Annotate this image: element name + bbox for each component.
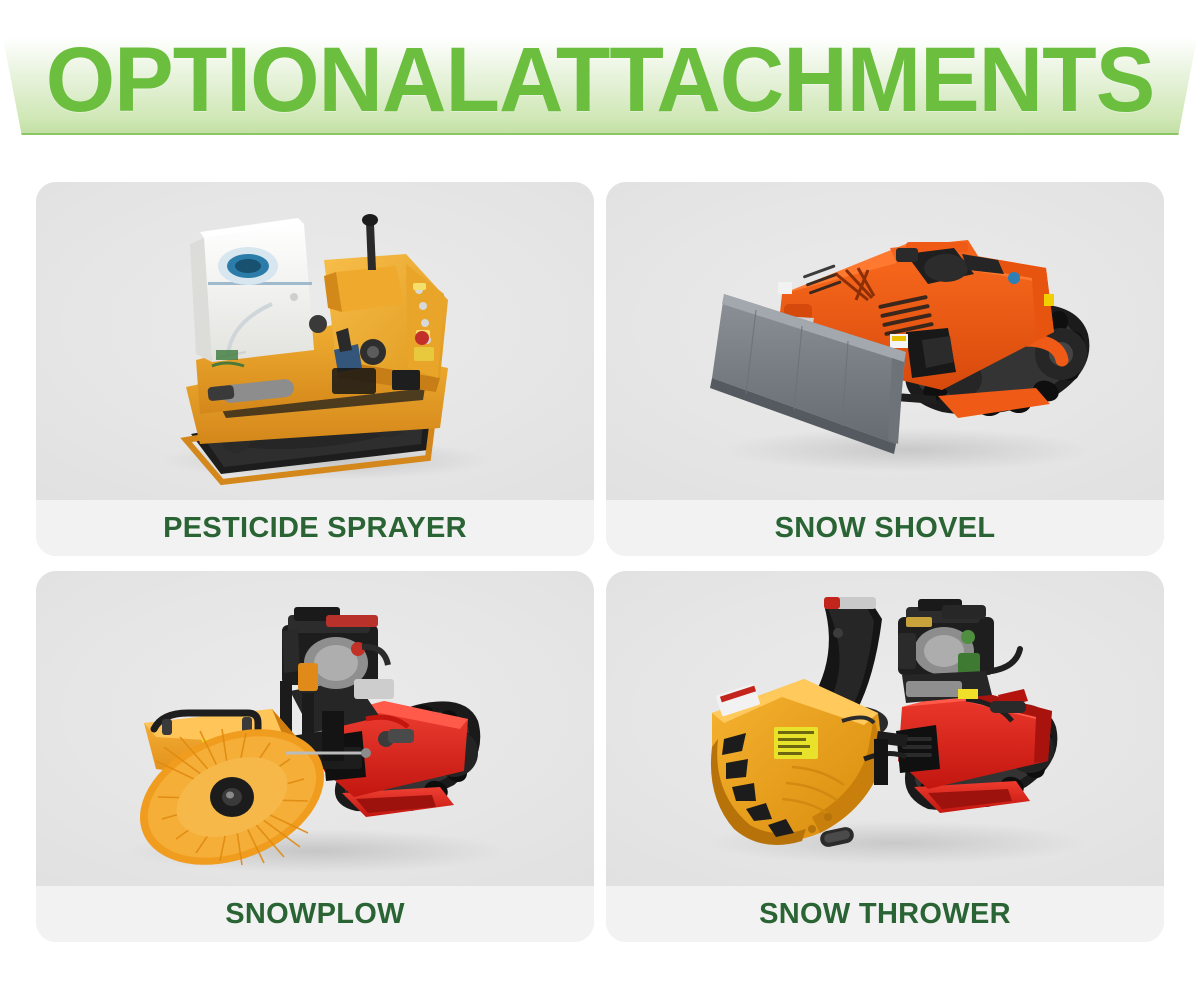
page-title: OPTIONALATTACHMENTS [18,32,1182,128]
attachment-image-pesticide-sprayer [36,182,594,500]
attachment-caption-pesticide-sprayer: PESTICIDE SPRAYER [163,512,467,545]
attachment-card-pesticide-sprayer[interactable]: PESTICIDE SPRAYER [36,182,594,556]
attachment-caption-bar: SNOW SHOVEL [606,500,1164,556]
page-header: OPTIONALATTACHMENTS [0,0,1200,140]
attachment-caption-snowplow: SNOWPLOW [225,898,405,931]
attachment-caption-snow-thrower: SNOW THROWER [759,898,1011,931]
attachment-card-snow-shovel[interactable]: SNOW SHOVEL [606,182,1164,556]
attachment-image-snowplow [36,571,594,886]
attachment-caption-bar: SNOWPLOW [36,886,594,942]
attachment-card-snow-thrower[interactable]: SNOW THROWER [606,571,1164,942]
attachment-caption-bar: SNOW THROWER [606,886,1164,942]
attachment-image-snow-shovel [606,182,1164,500]
attachments-grid: PESTICIDE SPRAYER [36,182,1164,942]
attachment-caption-snow-shovel: SNOW SHOVEL [775,512,996,545]
attachment-image-snow-thrower [606,571,1164,886]
attachment-card-snowplow[interactable]: SNOWPLOW [36,571,594,942]
attachment-caption-bar: PESTICIDE SPRAYER [36,500,594,556]
